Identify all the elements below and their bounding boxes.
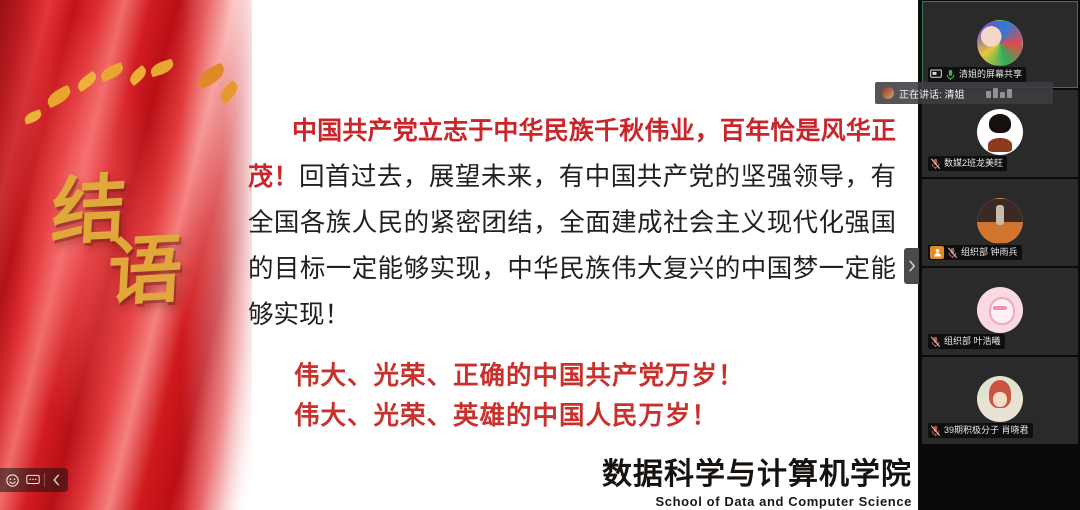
avatar — [977, 20, 1023, 66]
slide-text-body: 中国共产党立志于中华民族千秋伟业，百年恰是风华正茂！回首过去，展望未来，有中国共… — [248, 108, 896, 436]
avatar — [977, 198, 1023, 244]
avatar — [977, 376, 1023, 422]
school-banner: 数据科学与计算机学院 School of Data and Computer S… — [578, 448, 918, 510]
calligraphy-char-2: 语 — [106, 236, 204, 309]
participant-name: 数媒2班龙美旺 — [944, 157, 1003, 170]
participant-tile[interactable]: 39期积极分子 肖晓君 — [922, 357, 1078, 444]
participant-filmstrip[interactable]: 清姐的屏幕共享 数媒2班龙美旺 组织部 钟雨兵 — [920, 0, 1080, 510]
shared-screen-stage[interactable]: 结 语 中国共产党立志于中华民族千秋伟业，百年恰是风华正茂！回首过去，展望未来，… — [0, 0, 918, 510]
audio-wave-icon — [986, 88, 1012, 98]
active-speaker-toast: 正在讲话: 清姐 — [875, 82, 1053, 104]
slide-calligraphy-title: 结 语 — [52, 176, 202, 356]
slide-slogan-list: 伟大、光荣、正确的中国共产党万岁！ 伟大、光荣、英雄的中国人民万岁！ — [248, 356, 896, 436]
participant-name: 组织部 钟雨兵 — [961, 246, 1018, 259]
screen-share-icon — [930, 69, 942, 80]
participant-name-tag: 39期积极分子 肖晓君 — [928, 423, 1033, 438]
slide-slogan: 伟大、光荣、英雄的中国人民万岁！ — [294, 396, 896, 436]
participant-tile[interactable]: 清姐的屏幕共享 — [922, 1, 1078, 88]
toolbar-divider — [44, 473, 45, 487]
school-name-en: School of Data and Computer Science — [656, 494, 913, 509]
participant-name-tag: 组织部 钟雨兵 — [928, 245, 1022, 260]
chat-bubble-icon[interactable] — [23, 471, 43, 489]
participant-tile[interactable]: 组织部 叶浩曦 — [922, 268, 1078, 355]
active-speaker-label: 正在讲话: 清姐 — [899, 86, 965, 101]
participant-tile[interactable]: 组织部 钟雨兵 — [922, 179, 1078, 266]
participant-name: 组织部 叶浩曦 — [944, 335, 1001, 348]
participant-name-tag: 组织部 叶浩曦 — [928, 334, 1005, 349]
participant-name: 清姐的屏幕共享 — [959, 68, 1022, 81]
slide-paragraph-rest: 回首过去，展望未来，有中国共产党的坚强领导，有全国各族人民的紧密团结，全面建成社… — [248, 162, 896, 329]
microphone-muted-icon — [947, 247, 958, 259]
chevron-left-icon[interactable] — [46, 471, 66, 489]
participant-name: 39期积极分子 肖晓君 — [944, 424, 1029, 437]
slide-floating-toolbar[interactable] — [0, 468, 68, 492]
meeting-screen: 结 语 中国共产党立志于中华民族千秋伟业，百年恰是风华正茂！回首过去，展望未来，… — [0, 0, 1080, 510]
microphone-muted-icon — [930, 336, 941, 348]
microphone-muted-icon — [930, 158, 941, 170]
participant-name-tag: 数媒2班龙美旺 — [928, 156, 1007, 171]
emoji-reaction-icon[interactable] — [2, 471, 22, 489]
school-name-cn: 数据科学与计算机学院 — [602, 449, 912, 493]
microphone-muted-icon — [930, 425, 941, 437]
host-badge-icon — [930, 246, 944, 259]
avatar — [977, 109, 1023, 155]
slide-slogan: 伟大、光荣、正确的中国共产党万岁！ — [294, 356, 896, 396]
filmstrip-collapse-handle[interactable] — [904, 248, 919, 284]
avatar — [977, 287, 1023, 333]
speaker-avatar — [882, 87, 894, 99]
microphone-icon — [945, 69, 956, 81]
participant-name-tag: 清姐的屏幕共享 — [928, 67, 1026, 82]
slide-paragraph: 中国共产党立志于中华民族千秋伟业，百年恰是风华正茂！回首过去，展望未来，有中国共… — [248, 108, 896, 338]
